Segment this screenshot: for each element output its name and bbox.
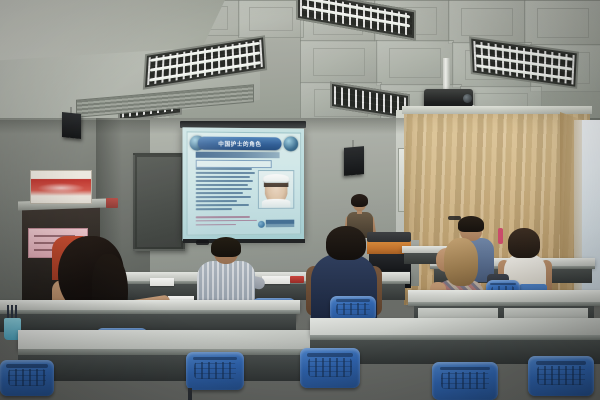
chair[interactable] bbox=[0, 360, 54, 400]
ceiling-tile bbox=[448, 0, 526, 44]
notebook-paper bbox=[150, 278, 174, 286]
attendee-hair bbox=[458, 216, 484, 232]
ceiling-tile bbox=[524, 0, 600, 46]
slide-heading bbox=[196, 152, 280, 159]
chair[interactable] bbox=[432, 362, 498, 400]
slide-body-text bbox=[196, 168, 255, 213]
slide-title-bar: 中国护士的角色 bbox=[198, 137, 281, 151]
wall-speaker-left bbox=[62, 112, 81, 139]
curtain-rail bbox=[402, 106, 592, 114]
chair[interactable] bbox=[528, 356, 594, 400]
projector-lens-icon bbox=[463, 94, 472, 103]
chair[interactable] bbox=[186, 352, 244, 400]
glasses-icon bbox=[196, 240, 209, 245]
projection-screen: 中国护士的角色 bbox=[182, 127, 304, 240]
slide-subheading bbox=[196, 160, 273, 168]
red-marker bbox=[106, 198, 118, 208]
ceiling-tile bbox=[300, 40, 378, 84]
red-white-carton bbox=[30, 170, 92, 204]
desk-row-front-left bbox=[0, 300, 300, 334]
slide-footer-text bbox=[196, 216, 259, 227]
portrait-uniform bbox=[262, 199, 291, 208]
logo-mark-icon bbox=[258, 221, 265, 228]
attendee-strap bbox=[498, 228, 503, 244]
presenter-hair bbox=[351, 194, 368, 207]
presentation-slide: 中国护士的角色 bbox=[187, 131, 302, 235]
slide-nurse-portrait bbox=[258, 170, 294, 208]
notebook-paper bbox=[262, 276, 290, 284]
ceiling-tile bbox=[238, 0, 304, 38]
attendee-hair bbox=[326, 226, 366, 260]
logo-wordmark bbox=[266, 219, 295, 228]
chalkboard-panel bbox=[133, 153, 185, 251]
portrait-nurse-cap bbox=[263, 174, 289, 183]
attendee-hair bbox=[211, 237, 241, 257]
attendee-hair bbox=[444, 238, 478, 286]
slide-institution-logo bbox=[258, 219, 295, 228]
attendee-hair bbox=[508, 228, 540, 258]
slide-title: 中国护士的角色 bbox=[198, 137, 281, 151]
chair[interactable] bbox=[300, 348, 360, 398]
desk-row-foreground bbox=[18, 330, 318, 400]
slide-decor-orb bbox=[284, 136, 298, 151]
classroom-photo: 中国护士的角色 bbox=[0, 0, 600, 400]
red-folder bbox=[290, 276, 304, 283]
wall-speaker-right bbox=[344, 146, 364, 176]
